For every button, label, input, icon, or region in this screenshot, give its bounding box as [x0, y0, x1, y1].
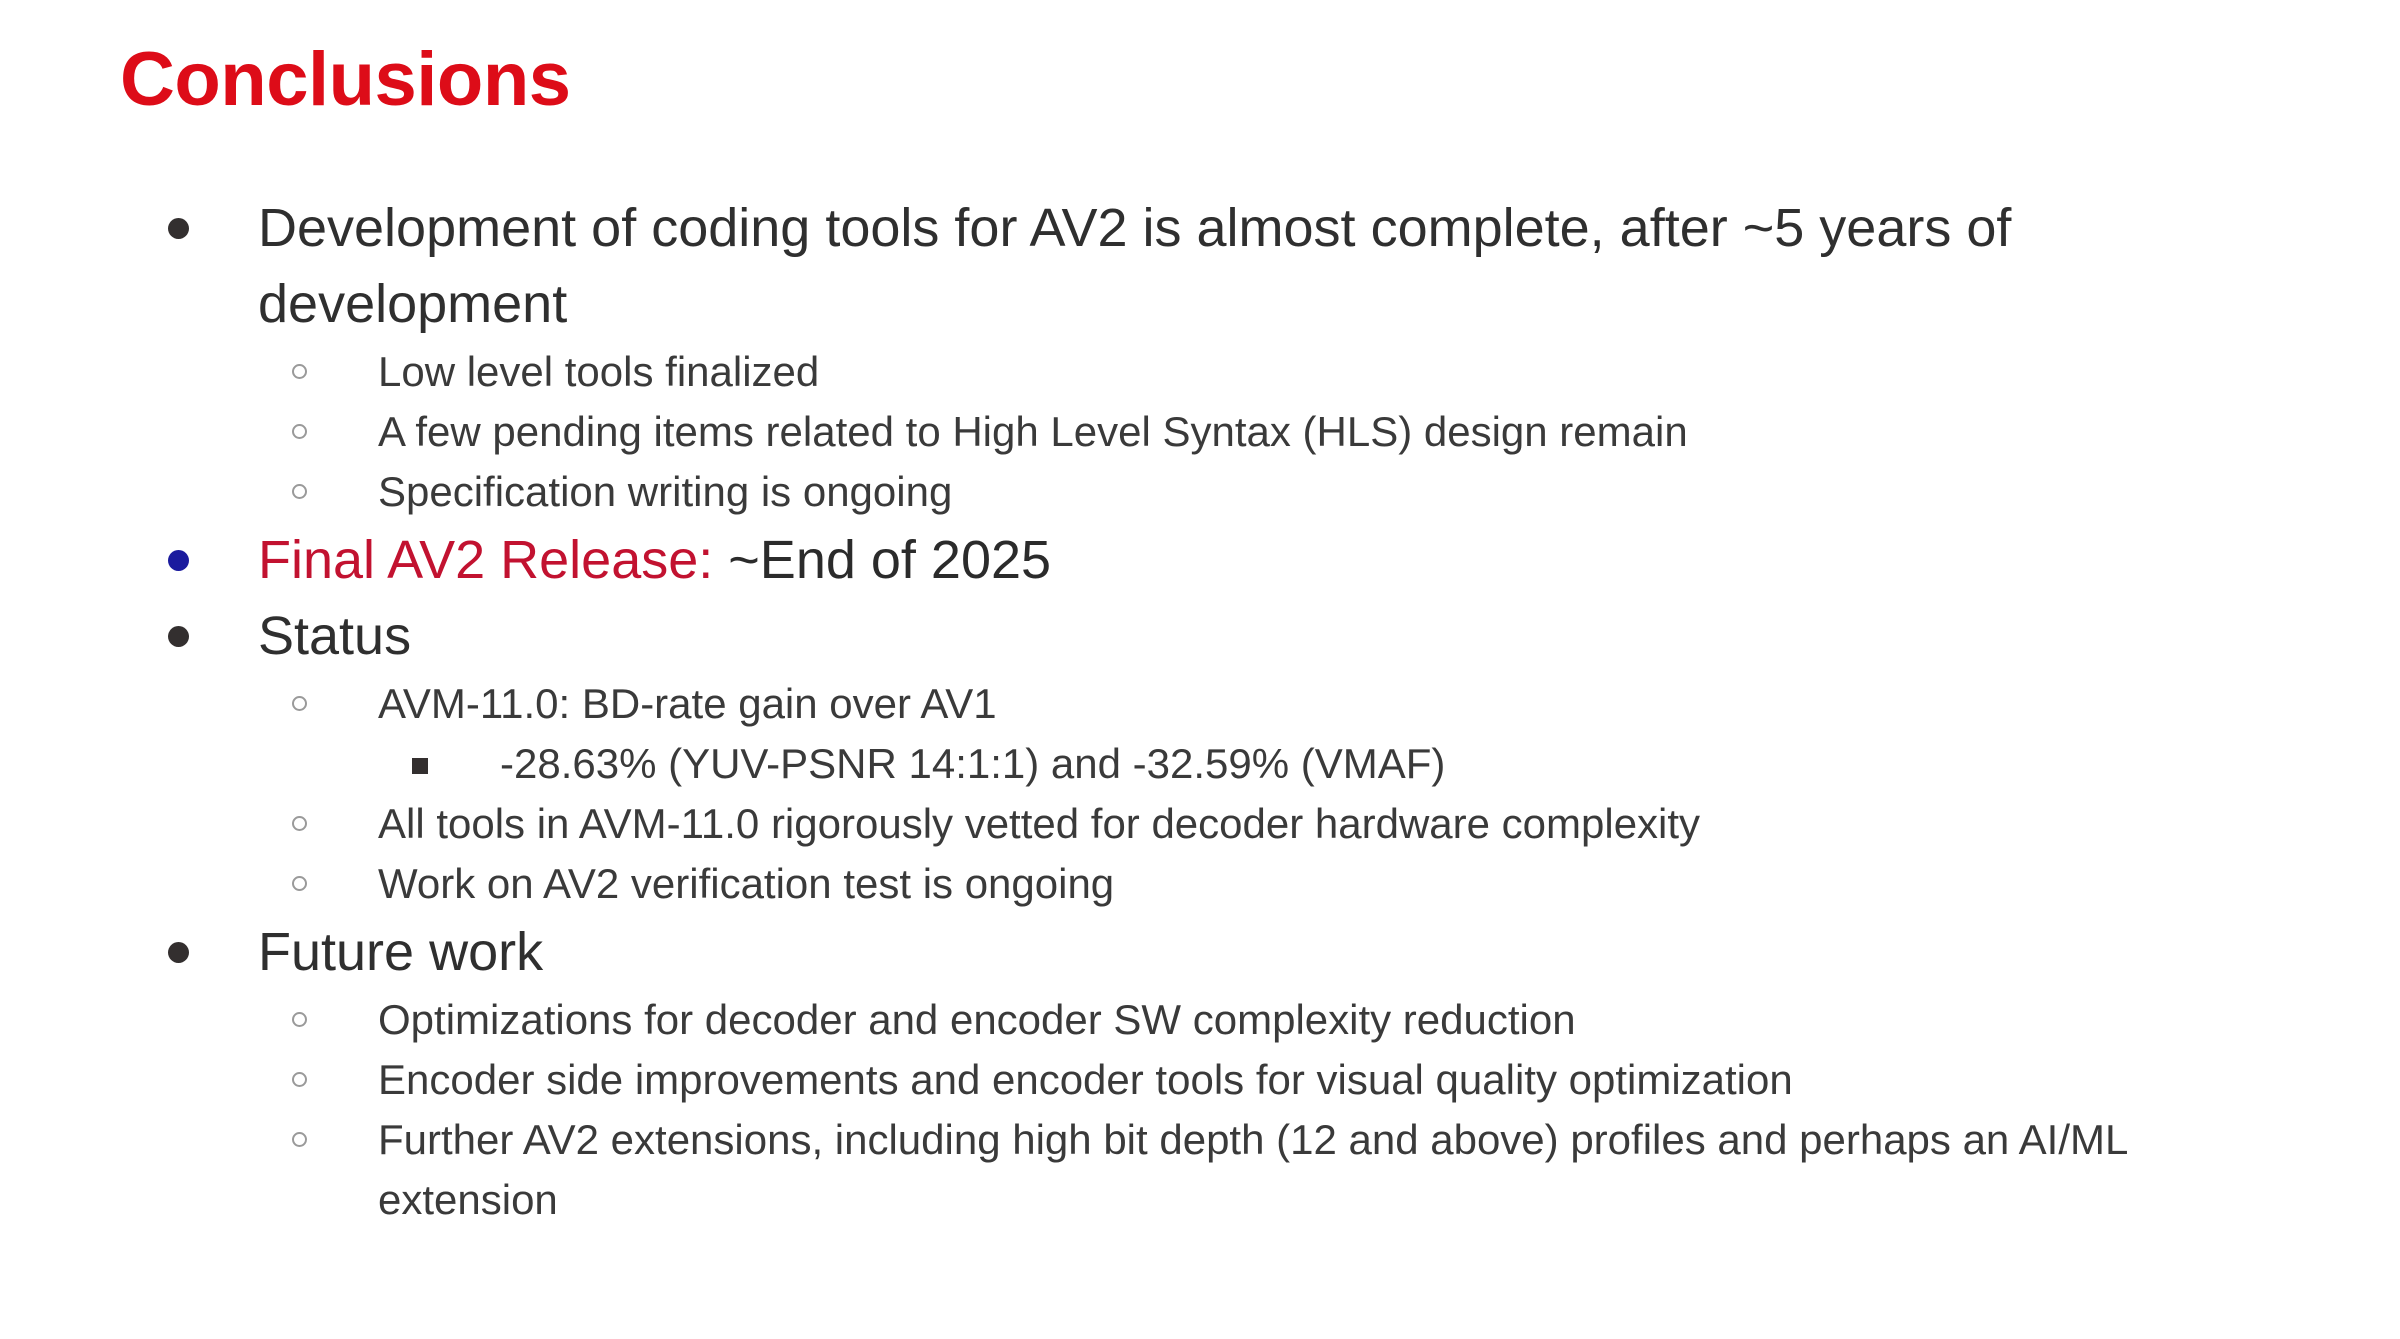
bullet-marker-hollow-circle-icon: [292, 424, 307, 439]
bullet-item-level2: A few pending items related to High Leve…: [0, 402, 2400, 462]
bullet-item-level1-release: Final AV2 Release: ~End of 2025: [0, 522, 2400, 598]
bullet-text: Optimizations for decoder and encoder SW…: [378, 990, 2280, 1050]
bullet-item-level2: Work on AV2 verification test is ongoing: [0, 854, 2400, 914]
slide-body-bullet-list: Development of coding tools for AV2 is a…: [0, 190, 2400, 1230]
page-title: Conclusions: [120, 42, 571, 118]
bullet-marker-filled-square-icon: [412, 758, 428, 774]
bullet-marker-filled-circle-icon: [168, 550, 189, 571]
bullet-marker-filled-circle-icon: [168, 218, 189, 239]
bullet-item-level2: Optimizations for decoder and encoder SW…: [0, 990, 2400, 1050]
bullet-item-level1: Development of coding tools for AV2 is a…: [0, 190, 2400, 342]
bullet-marker-hollow-circle-icon: [292, 1072, 307, 1087]
bullet-text: Low level tools finalized: [378, 342, 2280, 402]
bullet-text: Work on AV2 verification test is ongoing: [378, 854, 2280, 914]
bullet-text: Further AV2 extensions, including high b…: [378, 1110, 2280, 1230]
bullet-text: A few pending items related to High Leve…: [378, 402, 2280, 462]
bullet-item-level1: Future work: [0, 914, 2400, 990]
bullet-text: All tools in AVM-11.0 rigorously vetted …: [378, 794, 2280, 854]
bullet-text: Final AV2 Release: ~End of 2025: [258, 522, 2280, 598]
bullet-item-level2: AVM-11.0: BD-rate gain over AV1: [0, 674, 2400, 734]
bullet-text: -28.63% (YUV-PSNR 14:1:1) and -32.59% (V…: [500, 734, 2280, 794]
bullet-marker-hollow-circle-icon: [292, 876, 307, 891]
bullet-marker-hollow-circle-icon: [292, 364, 307, 379]
bullet-marker-filled-circle-icon: [168, 626, 189, 647]
bullet-text: Future work: [258, 914, 2280, 990]
bullet-text: AVM-11.0: BD-rate gain over AV1: [378, 674, 2280, 734]
bullet-text-rest: ~End of 2025: [713, 530, 1051, 590]
bullet-item-level1: Status: [0, 598, 2400, 674]
bullet-marker-filled-circle-icon: [168, 942, 189, 963]
bullet-marker-hollow-circle-icon: [292, 1132, 307, 1147]
bullet-text: Development of coding tools for AV2 is a…: [258, 190, 2280, 342]
bullet-text: Status: [258, 598, 2280, 674]
bullet-item-level2: Specification writing is ongoing: [0, 462, 2400, 522]
bullet-marker-hollow-circle-icon: [292, 696, 307, 711]
bullet-text: Encoder side improvements and encoder to…: [378, 1050, 2280, 1110]
slide-canvas: Conclusions Development of coding tools …: [0, 0, 2400, 1339]
bullet-marker-hollow-circle-icon: [292, 816, 307, 831]
bullet-item-level2: All tools in AVM-11.0 rigorously vetted …: [0, 794, 2400, 854]
bullet-marker-hollow-circle-icon: [292, 1012, 307, 1027]
bullet-item-level2: Further AV2 extensions, including high b…: [0, 1110, 2400, 1230]
bullet-marker-hollow-circle-icon: [292, 484, 307, 499]
bullet-item-level2: Low level tools finalized: [0, 342, 2400, 402]
bullet-item-level3: -28.63% (YUV-PSNR 14:1:1) and -32.59% (V…: [0, 734, 2400, 794]
bullet-item-level2: Encoder side improvements and encoder to…: [0, 1050, 2400, 1110]
bullet-text-highlight: Final AV2 Release:: [258, 530, 713, 590]
bullet-text: Specification writing is ongoing: [378, 462, 2280, 522]
